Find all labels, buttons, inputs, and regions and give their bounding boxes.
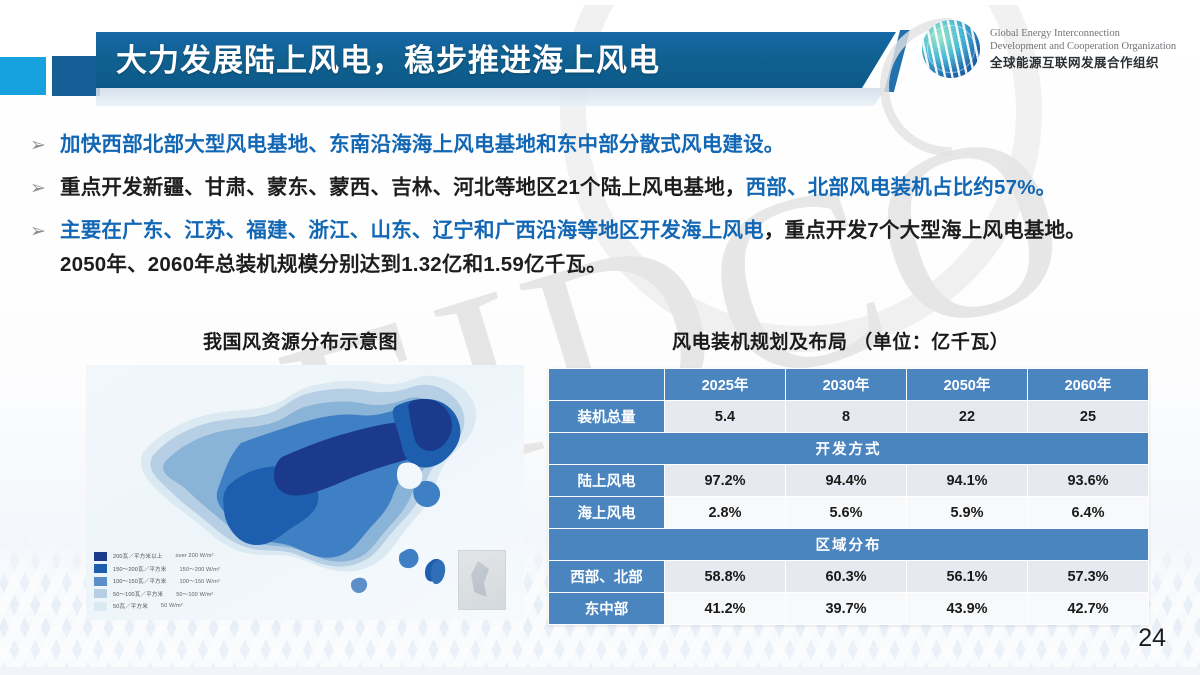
legend-swatch-icon: [94, 577, 107, 586]
table-header-row: 2025年 2030年 2050年 2060年: [549, 369, 1149, 401]
cell-offshore-2060: 6.4%: [1028, 497, 1149, 529]
header-bar-shadow: [96, 88, 886, 106]
table-row: 装机总量 5.4 8 22 25: [549, 401, 1149, 433]
cell-eastcentral-2030: 39.7%: [786, 593, 907, 625]
cell-offshore-2030: 5.6%: [786, 497, 907, 529]
legend-item: 150～200瓦／平方米 150～200 W/m²: [94, 564, 220, 573]
header-accent-block: [52, 56, 100, 96]
page-number: 24: [1138, 624, 1166, 653]
row-header-west-north: 西部、北部: [549, 561, 665, 593]
legend-swatch-icon: [94, 552, 107, 561]
legend-label-en: 150～200 W/m²: [179, 565, 219, 573]
legend-label-en: 100～150 W/m²: [179, 577, 219, 585]
organization-logo: Global Energy Interconnection Developmen…: [922, 20, 1176, 78]
cell-total-2060: 25: [1028, 401, 1149, 433]
table-col-header-2030: 2030年: [786, 369, 907, 401]
globe-icon: [922, 20, 980, 78]
wind-resource-map: 200瓦／平方米以上 over 200 W/m² 150～200瓦／平方米 15…: [86, 365, 524, 620]
bullet-2-segment-1: 重点开发新疆、甘肃、蒙东、蒙西、吉林、河北等地区21个陆上风电基地，: [60, 176, 746, 199]
legend-swatch-icon: [94, 589, 107, 598]
cell-onshore-2060: 93.6%: [1028, 465, 1149, 497]
table-row: 东中部 41.2% 39.7% 43.9% 42.7%: [549, 593, 1149, 625]
legend-label-en: over 200 W/m²: [176, 553, 214, 559]
row-header-onshore-wind: 陆上风电: [549, 465, 665, 497]
table-col-header-2050: 2050年: [907, 369, 1028, 401]
cell-offshore-2050: 5.9%: [907, 497, 1028, 529]
bullet-3-segment-1: 主要在广东、江苏、福建、浙江、山东、辽宁和广西沿海等地区开发海上风电: [60, 219, 764, 242]
cell-westnorth-2025: 58.8%: [665, 561, 786, 593]
slide-header: 大力发展陆上风电，稳步推进海上风电 Global Energy Intercon…: [0, 0, 1200, 112]
bullet-arrow-icon: ➢: [30, 214, 60, 248]
legend-label-en: 50～100 W/m²: [176, 590, 213, 598]
legend-label-cn: 50瓦／平方米: [113, 602, 148, 610]
cell-onshore-2050: 94.1%: [907, 465, 1028, 497]
legend-label-cn: 100～150瓦／平方米: [113, 577, 166, 585]
bullet-text-3: 主要在广东、江苏、福建、浙江、山东、辽宁和广西沿海等地区开发海上风电，重点开发7…: [60, 214, 1086, 282]
cell-westnorth-2060: 57.3%: [1028, 561, 1149, 593]
bullet-text-2: 重点开发新疆、甘肃、蒙东、蒙西、吉林、河北等地区21个陆上风电基地，西部、北部风…: [60, 171, 1056, 205]
table-row: 海上风电 2.8% 5.6% 5.9% 6.4%: [549, 497, 1149, 529]
bullet-list: ➢ 加快西部北部大型风电基地、东南沿海海上风电基地和东中部分散式风电建设。 ➢ …: [30, 128, 1180, 291]
row-header-east-central: 东中部: [549, 593, 665, 625]
logo-english-line2: Development and Cooperation Organization: [990, 41, 1176, 54]
cell-onshore-2030: 94.4%: [786, 465, 907, 497]
cell-eastcentral-2050: 43.9%: [907, 593, 1028, 625]
logo-text-block: Global Energy Interconnection Developmen…: [990, 28, 1176, 71]
table-caption: 风电装机规划及布局 （单位：亿千瓦）: [672, 327, 1009, 354]
legend-label-cn: 200瓦／平方米以上: [113, 552, 163, 560]
cell-eastcentral-2025: 41.2%: [665, 593, 786, 625]
cell-total-2030: 8: [786, 401, 907, 433]
bullet-3-line-2: 2050年、2060年总装机规模分别达到1.32亿和1.59亿千瓦。: [60, 248, 1086, 282]
table-row: 西部、北部 58.8% 60.3% 56.1% 57.3%: [549, 561, 1149, 593]
bullet-2-segment-2: 西部、北部风电装机占比约57%。: [746, 176, 1057, 199]
legend-item: 100～150瓦／平方米 100～150 W/m²: [94, 577, 220, 586]
bullet-item-3: ➢ 主要在广东、江苏、福建、浙江、山东、辽宁和广西沿海等地区开发海上风电，重点开…: [30, 214, 1180, 282]
legend-item: 50～100瓦／平方米 50～100 W/m²: [94, 589, 220, 598]
page-title: 大力发展陆上风电，稳步推进海上风电: [116, 41, 876, 81]
row-header-total-capacity: 装机总量: [549, 401, 665, 433]
bullet-text-1: 加快西部北部大型风电基地、东南沿海海上风电基地和东中部分散式风电建设。: [60, 128, 785, 162]
map-inset-box: [458, 550, 506, 610]
section-header-regional-distribution: 区域分布: [549, 529, 1149, 561]
bullet-3-line-1: 主要在广东、江苏、福建、浙江、山东、辽宁和广西沿海等地区开发海上风电，重点开发7…: [60, 214, 1086, 248]
header-accent-square: [0, 57, 46, 95]
cell-westnorth-2050: 56.1%: [907, 561, 1028, 593]
bullet-arrow-icon: ➢: [30, 128, 60, 162]
row-header-offshore-wind: 海上风电: [549, 497, 665, 529]
map-legend: 200瓦／平方米以上 over 200 W/m² 150～200瓦／平方米 15…: [94, 552, 220, 615]
legend-swatch-icon: [94, 602, 107, 611]
legend-item: 50瓦／平方米 50 W/m²: [94, 602, 220, 611]
table-col-header-2060: 2060年: [1028, 369, 1149, 401]
bullet-3-segment-2: ，重点开发7个大型海上风电基地。: [764, 219, 1086, 242]
legend-label-cn: 50～100瓦／平方米: [113, 590, 163, 598]
slide-root: GEIDCO 大力发展陆上风电，稳步推进海上风电 Global Energy I…: [0, 0, 1200, 675]
map-caption: 我国风资源分布示意图: [203, 327, 398, 354]
cell-total-2050: 22: [907, 401, 1028, 433]
table-section-row: 区域分布: [549, 529, 1149, 561]
legend-label-en: 50 W/m²: [161, 603, 183, 609]
logo-chinese-name: 全球能源互联网发展合作组织: [990, 55, 1176, 71]
cell-offshore-2025: 2.8%: [665, 497, 786, 529]
legend-swatch-icon: [94, 564, 107, 573]
cell-eastcentral-2060: 42.7%: [1028, 593, 1149, 625]
wind-capacity-table: 2025年 2030年 2050年 2060年 装机总量 5.4 8 22 25…: [548, 368, 1149, 625]
table-row: 陆上风电 97.2% 94.4% 94.1% 93.6%: [549, 465, 1149, 497]
logo-english-line1: Global Energy Interconnection: [990, 28, 1176, 41]
bullet-1-segment-1: 加快西部北部大型风电基地、东南沿海海上风电基地和东中部分散式风电建设。: [60, 133, 785, 156]
section-header-development-mode: 开发方式: [549, 433, 1149, 465]
cell-onshore-2025: 97.2%: [665, 465, 786, 497]
bullet-item-1: ➢ 加快西部北部大型风电基地、东南沿海海上风电基地和东中部分散式风电建设。: [30, 128, 1180, 162]
table-section-row: 开发方式: [549, 433, 1149, 465]
cell-total-2025: 5.4: [665, 401, 786, 433]
cell-westnorth-2030: 60.3%: [786, 561, 907, 593]
table-corner-cell: [549, 369, 665, 401]
background-bottom-bar: [0, 667, 1200, 675]
bullet-item-2: ➢ 重点开发新疆、甘肃、蒙东、蒙西、吉林、河北等地区21个陆上风电基地，西部、北…: [30, 171, 1180, 205]
legend-label-cn: 150～200瓦／平方米: [113, 565, 166, 573]
bullet-arrow-icon: ➢: [30, 171, 60, 205]
table-col-header-2025: 2025年: [665, 369, 786, 401]
legend-item: 200瓦／平方米以上 over 200 W/m²: [94, 552, 220, 561]
